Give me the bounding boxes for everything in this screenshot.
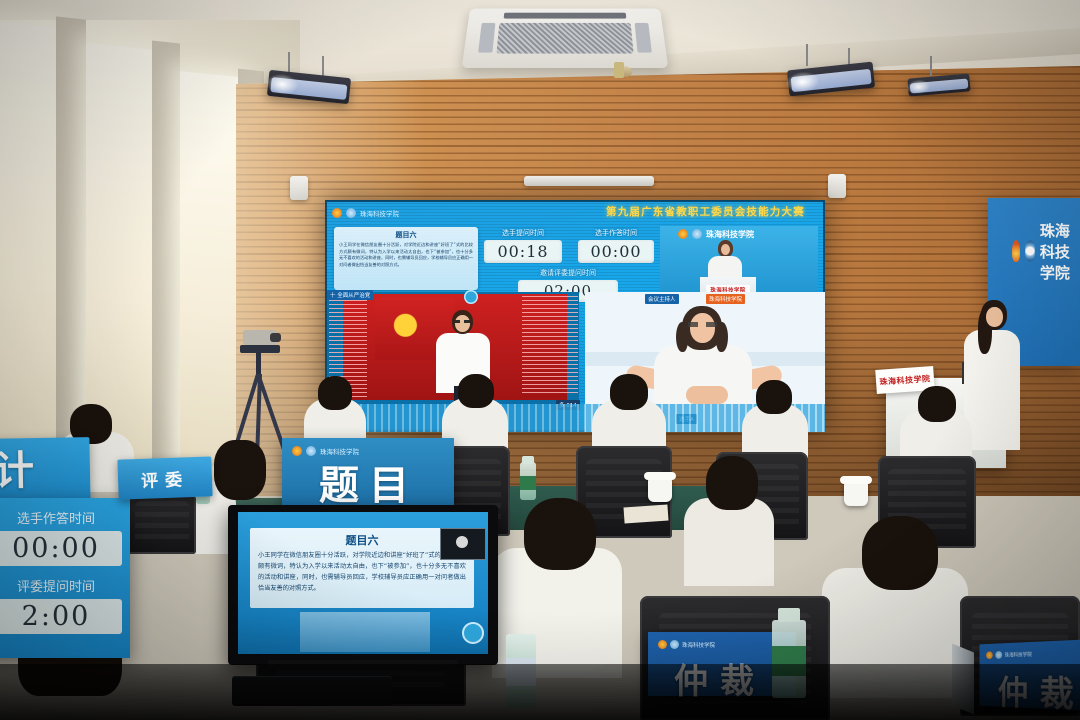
wall-speaker <box>828 174 846 198</box>
tea-cup-lid <box>840 476 872 484</box>
office-chair <box>128 492 196 554</box>
monitor-pip-person <box>456 536 468 548</box>
led-timer-group: 选手提问时间 00:18 选手作答时间 00:00 邀请评委提问时间 02:00 <box>484 228 654 300</box>
school-seal-icon <box>306 446 316 456</box>
judge-nameplate-text: 评委 <box>141 465 190 492</box>
video-left-corner-label: 十 全面从严治党 <box>327 290 373 300</box>
subject-sign-word-wrap: 题目 <box>294 458 444 506</box>
wall-speaker <box>290 176 308 200</box>
monitor-graphic-podium <box>300 612 430 652</box>
led-wall-corner-logo: 珠海科技学院 <box>332 206 472 220</box>
bottle-cap <box>522 456 534 464</box>
timer-display-panel: 选手作答时间 00:00 评委提问时间 2:00 <box>0 498 130 658</box>
refresh-icon <box>464 290 478 304</box>
window-blind <box>0 21 56 466</box>
video-left-text-block <box>522 296 578 396</box>
school-seal-icon <box>670 640 679 649</box>
bottle-label <box>520 476 536 490</box>
pendant-rod <box>806 44 808 66</box>
timer-value-0: 00:18 <box>484 240 562 263</box>
pendant-rod <box>930 56 932 76</box>
fg-timer-value-0: 00:00 <box>0 531 122 566</box>
conference-room-photo: 珠海科技学院 第九届广东省教职工委员会技能力大赛 题目六 小王同学在微信朋友圈十… <box>0 0 1080 720</box>
window-mullion <box>56 16 86 471</box>
flame-logo-icon <box>658 640 667 649</box>
ceiling-ac-unit <box>462 9 669 68</box>
podium-sign-text: 珠海科技学院 <box>879 373 931 388</box>
timer-label-2: 邀请评委提问时间 <box>518 268 618 278</box>
flame-logo-icon <box>1012 240 1020 262</box>
led-presenter-org-banner: 珠海科技学院 <box>678 228 798 240</box>
nameplate-org-text: 珠海科技学院 <box>1005 650 1032 658</box>
bottle-cap <box>778 608 800 622</box>
nameplate-org-text: 珠海科技学院 <box>682 641 715 649</box>
led-question-title: 题目六 <box>339 230 473 240</box>
school-seal-icon <box>1025 240 1035 262</box>
tea-cup <box>844 482 868 506</box>
fg-timer-label-0: 选手作答时间 <box>0 508 122 527</box>
flame-logo-icon <box>986 651 993 659</box>
rollup-banner-text: 珠海科技学院 <box>1040 220 1080 283</box>
timer-label-0: 选手提问时间 <box>484 228 562 238</box>
tea-cup <box>648 478 672 502</box>
timer-value-1: 00:00 <box>578 240 654 263</box>
window-blind <box>180 71 238 469</box>
room-presenter-body <box>964 330 1020 450</box>
subject-sign-text: 题目 <box>319 453 419 511</box>
led-wall-headline: 第九届广东省教职工委员会技能力大赛 <box>606 204 822 219</box>
fg-timer-label-1: 评委提问时间 <box>0 576 122 595</box>
video-right-speaker-face <box>690 313 715 343</box>
video-left-speaker-face <box>455 315 470 332</box>
fg-timer-value-1: 2:00 <box>0 599 122 634</box>
wall-light-strip <box>524 176 654 186</box>
tripod-column <box>256 352 261 376</box>
monitor-question-title: 题目六 <box>258 532 466 548</box>
glasses-icon <box>455 320 470 323</box>
monitor-question-body: 小王同学在微信朋友圈十分活跃，对学院近边和讲座“好班了”式的比较方式颇有微词，特… <box>258 551 466 594</box>
flame-logo-icon <box>292 446 302 456</box>
judge-nameplate: 评委 <box>117 456 212 499</box>
video-right-role-label: 会议主持人 <box>645 294 679 304</box>
foreground-shadow <box>0 664 1080 720</box>
refresh-icon <box>462 622 484 644</box>
video-right-org-label: 珠海科技学院 <box>706 294 745 304</box>
room-presenter-face <box>986 307 1003 327</box>
school-seal-icon <box>692 229 702 239</box>
flame-logo-icon <box>332 208 342 218</box>
rollup-banner-logos: 珠海科技学院 <box>1012 238 1080 264</box>
led-question-body: 小王同学在微信朋友圈十分活跃，对学院近边和讲座“好班了”式的比较方式颇有微词，特… <box>339 242 473 268</box>
glasses-icon <box>688 322 717 327</box>
led-question-card: 题目六 小王同学在微信朋友圈十分活跃，对学院近边和讲座“好班了”式的比较方式颇有… <box>334 227 478 290</box>
led-logo-text: 珠海科技学院 <box>360 208 399 218</box>
tea-cup-lid <box>644 472 676 480</box>
paper-sheet <box>623 504 668 523</box>
timer-sign-header: 计时器 <box>0 437 91 505</box>
window-mullion <box>152 41 180 478</box>
pendant-rod <box>288 52 290 74</box>
led-wall-headline-wrap: 第九届广东省教职工委员会技能力大赛 <box>606 204 822 220</box>
school-seal-icon <box>995 651 1002 659</box>
ceiling-sensor <box>614 62 624 78</box>
video-right-hands <box>686 386 728 404</box>
school-seal-icon <box>346 208 356 218</box>
led-presenter-org-text: 珠海科技学院 <box>706 229 754 240</box>
camera-lens-icon <box>270 333 281 342</box>
timer-label-1: 选手作答时间 <box>578 228 654 238</box>
flame-logo-icon <box>678 229 688 239</box>
presenter-face <box>721 244 730 255</box>
